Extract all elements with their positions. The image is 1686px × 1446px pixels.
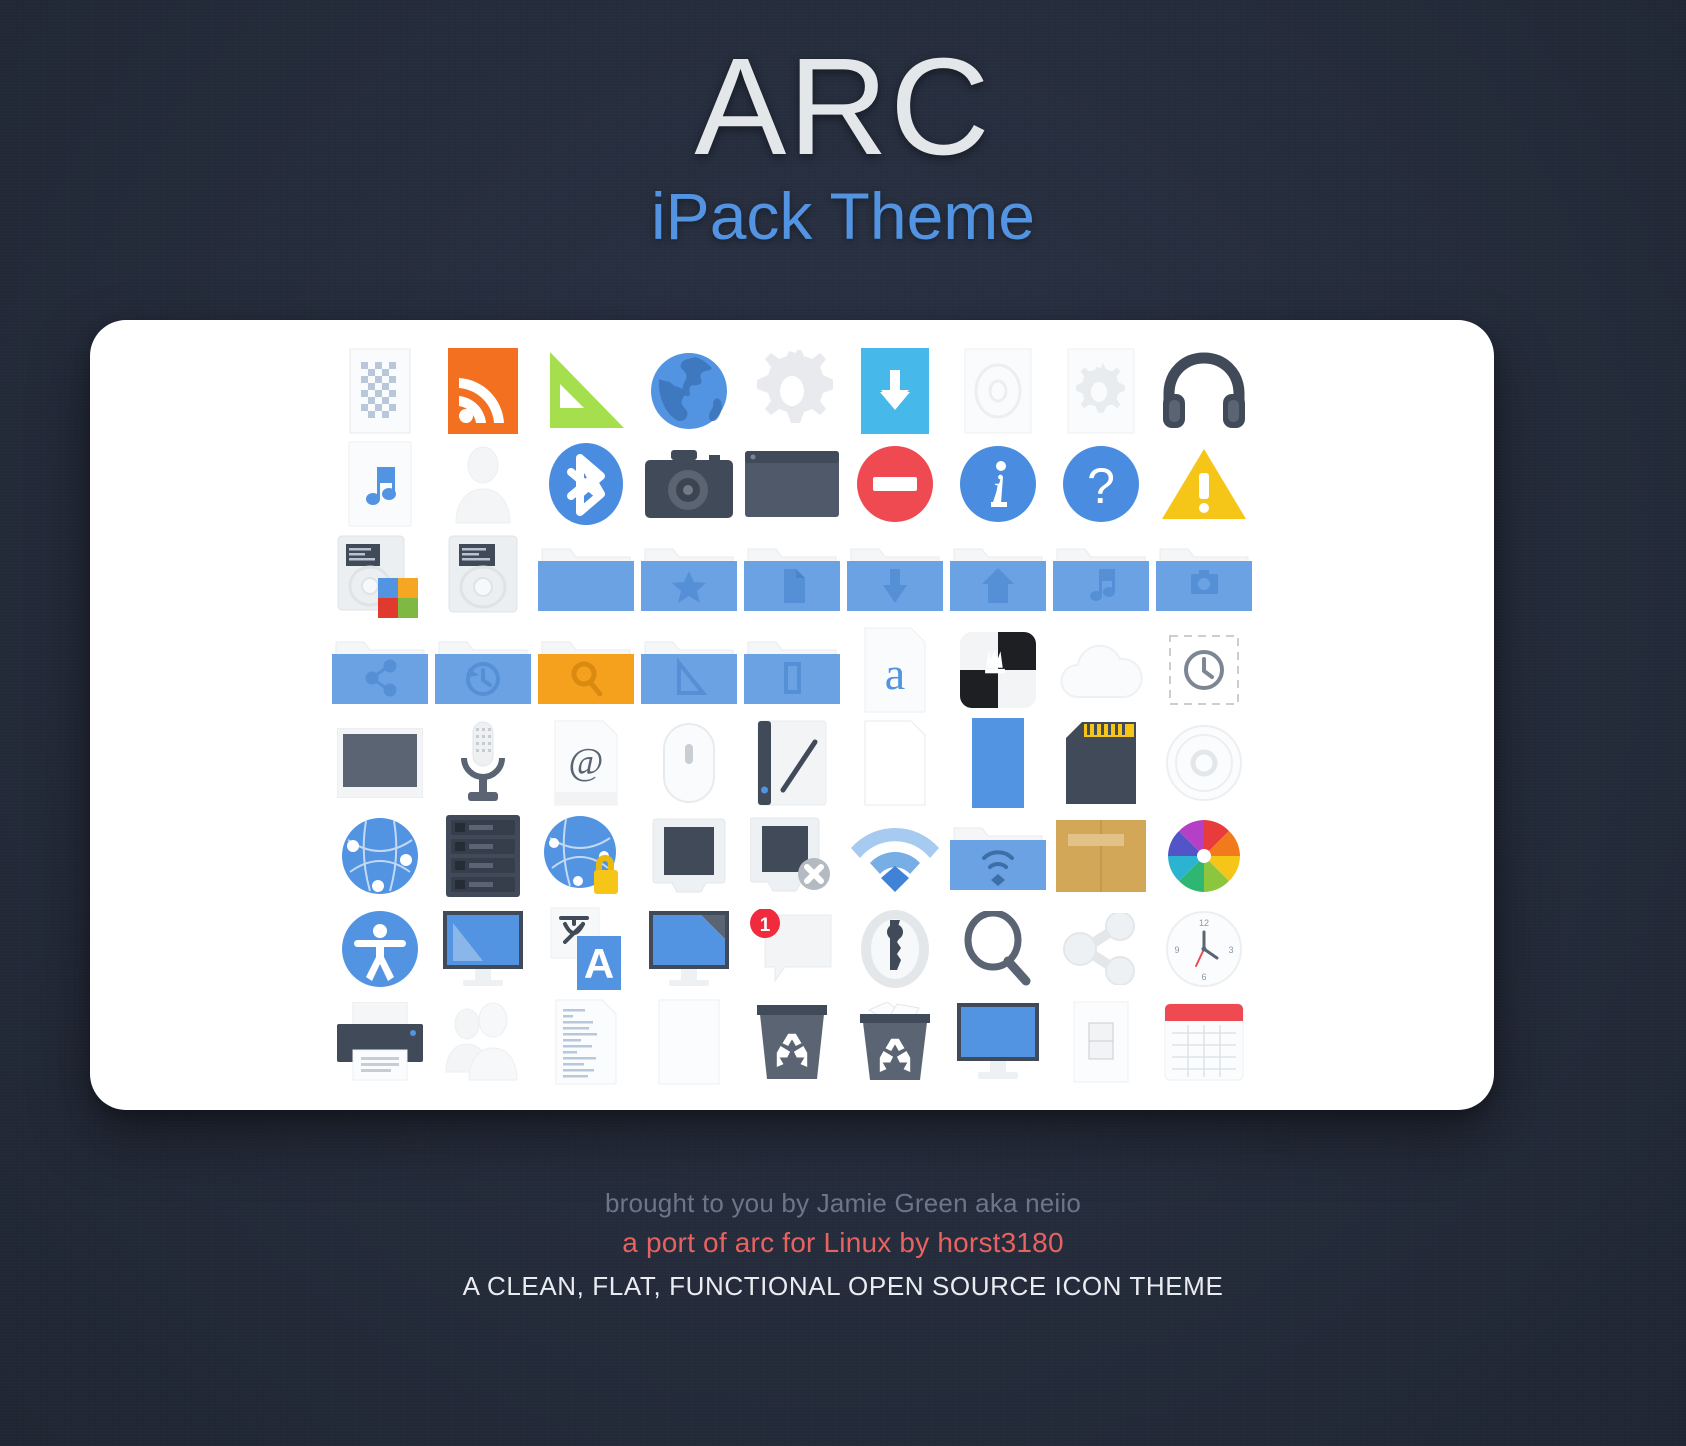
icon-cell[interactable]	[1153, 530, 1256, 623]
panel-window-icon	[1073, 1001, 1129, 1083]
icon-cell[interactable]	[431, 902, 534, 995]
error-stop-icon	[855, 444, 935, 524]
globe-icon	[649, 351, 729, 431]
svg-text:9: 9	[1175, 945, 1180, 955]
chess-games-icon	[960, 632, 1036, 708]
calendar-icon	[1164, 1003, 1244, 1081]
icon-cell[interactable]	[740, 530, 843, 623]
folder-public-share-icon	[332, 634, 428, 706]
icon-cell[interactable]	[1050, 530, 1153, 623]
photo-frame-icon	[337, 728, 423, 798]
icon-cell[interactable]	[637, 716, 740, 809]
icon-cell[interactable]	[844, 716, 947, 809]
icon-cell[interactable]	[431, 809, 534, 902]
svg-text:i: i	[992, 465, 1004, 514]
icon-cell[interactable]	[637, 623, 740, 716]
drawing-file-icon	[757, 720, 827, 806]
email-at-file-icon: @	[554, 720, 618, 806]
icon-cell[interactable]	[844, 809, 947, 902]
icon-cell[interactable]	[844, 902, 947, 995]
icon-cell[interactable]: 1	[740, 902, 843, 995]
printer-icon	[335, 1002, 425, 1082]
help-question-icon: ?	[1061, 444, 1141, 524]
trash-empty-icon	[755, 1003, 829, 1081]
icon-cell[interactable]	[1153, 809, 1256, 902]
icon-cell[interactable]: ?	[1050, 437, 1153, 530]
folder-recent-icon	[435, 634, 531, 706]
bluetooth-icon	[547, 442, 625, 526]
share-nodes-icon	[1062, 913, 1140, 985]
icon-cell[interactable]	[947, 344, 1050, 437]
folder-bookmarks-icon	[641, 541, 737, 613]
download-icon	[861, 348, 929, 434]
icon-cell[interactable]	[637, 809, 740, 902]
icon-cell[interactable]	[1050, 716, 1153, 809]
icon-cell[interactable]	[947, 716, 1050, 809]
svg-text:12: 12	[1199, 918, 1209, 928]
icon-cell[interactable]	[328, 809, 431, 902]
text-document-icon	[555, 999, 617, 1085]
footer-port-part-a: a port of arc	[622, 1227, 774, 1258]
folder-music-icon	[1053, 541, 1149, 613]
user-avatar-icon	[450, 443, 516, 525]
folder-saved-search-icon	[538, 634, 634, 706]
icon-cell[interactable]	[1153, 995, 1256, 1088]
camera-icon	[643, 448, 735, 520]
icon-cell[interactable]	[740, 716, 843, 809]
icon-cell[interactable]	[328, 995, 431, 1088]
cloud-icon	[1055, 639, 1147, 701]
icon-cell[interactable]	[844, 530, 947, 623]
icon-cell[interactable]	[637, 902, 740, 995]
icon-cell[interactable]	[328, 344, 431, 437]
icon-cell[interactable]	[534, 344, 637, 437]
icon-cell[interactable]	[637, 995, 740, 1088]
icon-cell[interactable]	[1050, 902, 1153, 995]
icon-showcase-card: i ?	[90, 320, 1494, 1110]
icon-cell[interactable]: i	[947, 437, 1050, 530]
document-blank-icon	[864, 720, 926, 806]
icon-cell[interactable]	[1153, 344, 1256, 437]
icon-cell[interactable]	[947, 530, 1050, 623]
header: ARC iPack Theme	[0, 38, 1686, 251]
icon-grid: i ?	[90, 320, 1494, 1110]
icon-cell[interactable]	[844, 344, 947, 437]
icon-cell[interactable]	[431, 437, 534, 530]
triangle-ruler-icon	[544, 348, 628, 434]
mouse-icon	[662, 722, 716, 804]
icon-cell[interactable]	[431, 716, 534, 809]
icon-cell[interactable]	[637, 530, 740, 623]
recent-clock-dashed-icon	[1168, 634, 1240, 706]
book-blue-icon	[972, 718, 1024, 808]
icon-cell[interactable]	[534, 995, 637, 1088]
icon-cell[interactable]	[844, 995, 947, 1088]
footer-credit-author: brought to you by Jamie Green aka neiio	[0, 1188, 1686, 1219]
icon-cell[interactable]	[328, 623, 431, 716]
package-box-icon	[1056, 820, 1146, 892]
network-secure-icon	[542, 814, 630, 898]
folder-icon	[538, 541, 634, 613]
icon-cell[interactable]	[947, 623, 1050, 716]
icon-cell[interactable]	[1050, 623, 1153, 716]
icon-cell[interactable]	[534, 437, 637, 530]
icon-cell[interactable]: @	[534, 716, 637, 809]
folder-videos-icon	[744, 634, 840, 706]
icon-cell[interactable]	[740, 623, 843, 716]
headphones-icon	[1161, 352, 1247, 430]
gear-document-icon	[1067, 348, 1135, 434]
footer-tagline: A CLEAN, FLAT, FUNCTIONAL OPEN SOURCE IC…	[0, 1271, 1686, 1302]
icon-cell[interactable]	[637, 437, 740, 530]
icon-cell[interactable]	[1050, 995, 1153, 1088]
icon-cell[interactable]	[947, 809, 1050, 902]
color-wheel-icon	[1166, 818, 1242, 894]
icon-cell[interactable]	[534, 809, 637, 902]
folder-downloads-icon	[847, 541, 943, 613]
notification-icon: 1	[749, 909, 835, 989]
svg-text:A: A	[584, 940, 614, 987]
icon-cell[interactable]	[328, 437, 431, 530]
translate-icon: A	[547, 906, 625, 992]
music-file-icon	[348, 441, 412, 527]
folder-documents-icon	[744, 541, 840, 613]
wifi-icon	[849, 820, 941, 892]
warning-icon	[1160, 445, 1248, 523]
icon-cell[interactable]	[947, 902, 1050, 995]
icon-cell[interactable]	[431, 995, 534, 1088]
svg-text:@: @	[568, 741, 603, 783]
icon-cell[interactable]	[328, 530, 431, 623]
analog-clock-icon: 12 3 6 9	[1165, 910, 1243, 988]
group-users-icon	[441, 1002, 525, 1082]
blank-page-icon	[658, 999, 720, 1085]
footer-credit-port: a port of arc for Linux by horst3180	[0, 1227, 1686, 1259]
microphone-icon	[454, 720, 512, 806]
icon-cell[interactable]	[740, 995, 843, 1088]
svg-text:6: 6	[1202, 972, 1207, 982]
notification-badge-count: 1	[760, 915, 771, 936]
folder-remote-icon	[950, 820, 1046, 892]
icon-cell[interactable]	[740, 437, 843, 530]
svg-text:a: a	[885, 648, 905, 699]
info-icon: i	[958, 444, 1038, 524]
rss-feed-icon	[448, 348, 518, 434]
keyring-password-icon	[859, 908, 931, 990]
monitor-blue-icon	[955, 1003, 1041, 1081]
window-icon	[745, 451, 839, 517]
transparency-checker-icon	[349, 348, 411, 434]
icon-cell[interactable]	[1153, 716, 1256, 809]
page-title: ARC	[0, 38, 1686, 176]
trash-full-icon	[857, 1002, 933, 1082]
page-root: ARC iPack Theme	[0, 0, 1686, 1446]
icon-cell[interactable]	[740, 809, 843, 902]
icon-cell[interactable]: A	[534, 902, 637, 995]
folder-pictures-icon	[1156, 541, 1252, 613]
footer: brought to you by Jamie Green aka neiio …	[0, 1188, 1686, 1302]
font-file-icon: a	[864, 627, 926, 713]
network-globe-icon	[340, 816, 420, 896]
search-magnifier-icon	[962, 911, 1034, 987]
icon-cell[interactable]: a	[844, 623, 947, 716]
accessibility-icon	[340, 909, 420, 989]
icon-cell[interactable]	[431, 530, 534, 623]
footer-port-part-b: for Linux by horst3180	[782, 1227, 1063, 1258]
icon-cell[interactable]: 12 3 6 9	[1153, 902, 1256, 995]
svg-text:?: ?	[1087, 458, 1115, 514]
folder-home-icon	[950, 541, 1046, 613]
icon-cell[interactable]	[1050, 344, 1153, 437]
network-drive-icon	[652, 817, 726, 895]
gear-icon	[751, 350, 833, 432]
icon-cell[interactable]	[1153, 437, 1256, 530]
icon-cell[interactable]	[431, 623, 534, 716]
sd-card-icon	[1066, 722, 1136, 804]
display-monitor-icon	[439, 909, 527, 989]
icon-cell[interactable]	[740, 344, 843, 437]
icon-cell[interactable]	[328, 716, 431, 809]
icon-cell[interactable]	[947, 995, 1050, 1088]
folder-templates-icon	[641, 634, 737, 706]
icon-cell[interactable]	[637, 344, 740, 437]
server-rack-icon	[446, 815, 520, 897]
icon-cell[interactable]	[534, 530, 637, 623]
icon-cell[interactable]	[1050, 809, 1153, 902]
cdrom-icon	[1165, 724, 1243, 802]
icon-cell[interactable]	[534, 623, 637, 716]
icon-cell[interactable]	[431, 344, 534, 437]
icon-cell[interactable]	[1153, 623, 1256, 716]
network-drive-offline-icon	[750, 816, 834, 896]
icon-cell[interactable]	[844, 437, 947, 530]
desktop-preferences-icon	[645, 909, 733, 989]
harddisk-icon	[447, 534, 519, 620]
harddisk-system-icon	[336, 534, 424, 620]
page-subtitle: iPack Theme	[0, 182, 1686, 251]
svg-text:3: 3	[1229, 945, 1234, 955]
icon-cell[interactable]	[328, 902, 431, 995]
optical-disc-icon	[964, 348, 1032, 434]
